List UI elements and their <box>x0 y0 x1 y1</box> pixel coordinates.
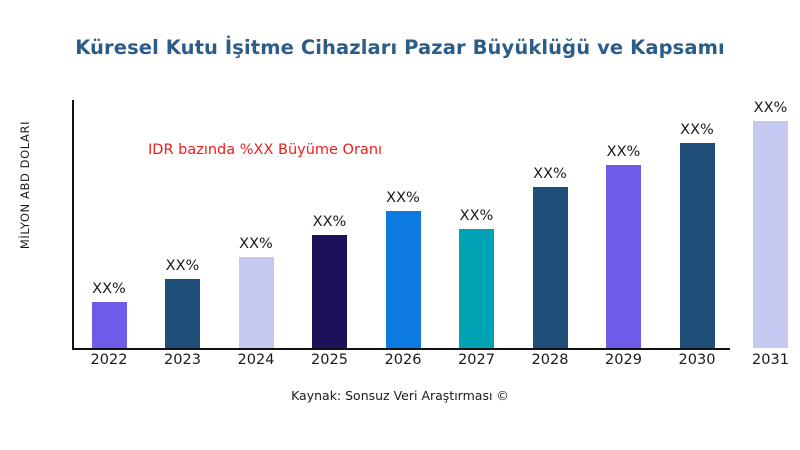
bar-2023[interactable]: XX% <box>165 279 200 348</box>
bar-rect-2022[interactable] <box>92 302 127 348</box>
y-axis-label-text: MİLYON ABD DOLARI <box>18 121 32 249</box>
bar-rect-2030[interactable] <box>680 143 715 348</box>
bar-2030[interactable]: XX% <box>680 143 715 348</box>
bar-2029[interactable]: XX% <box>606 165 641 348</box>
bar-2024[interactable]: XX% <box>239 257 274 348</box>
bar-2022[interactable]: XX% <box>92 302 127 348</box>
x-tick-2024: 2024 <box>221 352 291 368</box>
x-tick-2029: 2029 <box>589 352 659 368</box>
bar-value-label-2027: XX% <box>460 208 494 224</box>
bar-value-label-2031: XX% <box>754 100 788 116</box>
x-tick-2022: 2022 <box>74 352 144 368</box>
bar-value-label-2026: XX% <box>386 190 420 206</box>
bar-value-label-2029: XX% <box>607 144 641 160</box>
bar-rect-2027[interactable] <box>459 229 494 348</box>
bar-value-label-2028: XX% <box>533 166 567 182</box>
y-axis-label: MİLYON ABD DOLARI <box>14 60 36 310</box>
bar-rect-2025[interactable] <box>312 235 347 348</box>
bar-2031[interactable]: XX% <box>753 121 788 348</box>
bar-rect-2031[interactable] <box>753 121 788 348</box>
x-tick-2026: 2026 <box>368 352 438 368</box>
x-tick-2031: 2031 <box>736 352 800 368</box>
bar-value-label-2023: XX% <box>166 258 200 274</box>
bar-value-label-2030: XX% <box>680 122 714 138</box>
x-tick-2028: 2028 <box>515 352 585 368</box>
growth-rate-annotation: IDR bazında %XX Büyüme Oranı <box>148 142 382 158</box>
x-tick-2030: 2030 <box>662 352 732 368</box>
bar-value-label-2022: XX% <box>92 281 126 297</box>
bar-2028[interactable]: XX% <box>533 187 568 348</box>
bar-rect-2028[interactable] <box>533 187 568 348</box>
bar-2026[interactable]: XX% <box>386 211 421 348</box>
bar-rect-2023[interactable] <box>165 279 200 348</box>
x-tick-2027: 2027 <box>442 352 512 368</box>
y-axis-line <box>72 100 74 350</box>
bar-rect-2024[interactable] <box>239 257 274 348</box>
source-note: Kaynak: Sonsuz Veri Araştırması © <box>0 388 800 403</box>
bar-2025[interactable]: XX% <box>312 235 347 348</box>
x-axis-line <box>72 348 730 350</box>
bar-value-label-2025: XX% <box>313 214 347 230</box>
bar-2027[interactable]: XX% <box>459 229 494 348</box>
chart-title: Küresel Kutu İşitme Cihazları Pazar Büyü… <box>0 36 800 59</box>
bar-rect-2029[interactable] <box>606 165 641 348</box>
chart-container: Küresel Kutu İşitme Cihazları Pazar Büyü… <box>0 0 800 450</box>
x-tick-2025: 2025 <box>295 352 365 368</box>
plot-area: XX%XX%XX%XX%XX%XX%XX%XX%XX%XX% <box>72 100 784 350</box>
bar-rect-2026[interactable] <box>386 211 421 348</box>
x-tick-2023: 2023 <box>148 352 218 368</box>
bar-value-label-2024: XX% <box>239 236 273 252</box>
